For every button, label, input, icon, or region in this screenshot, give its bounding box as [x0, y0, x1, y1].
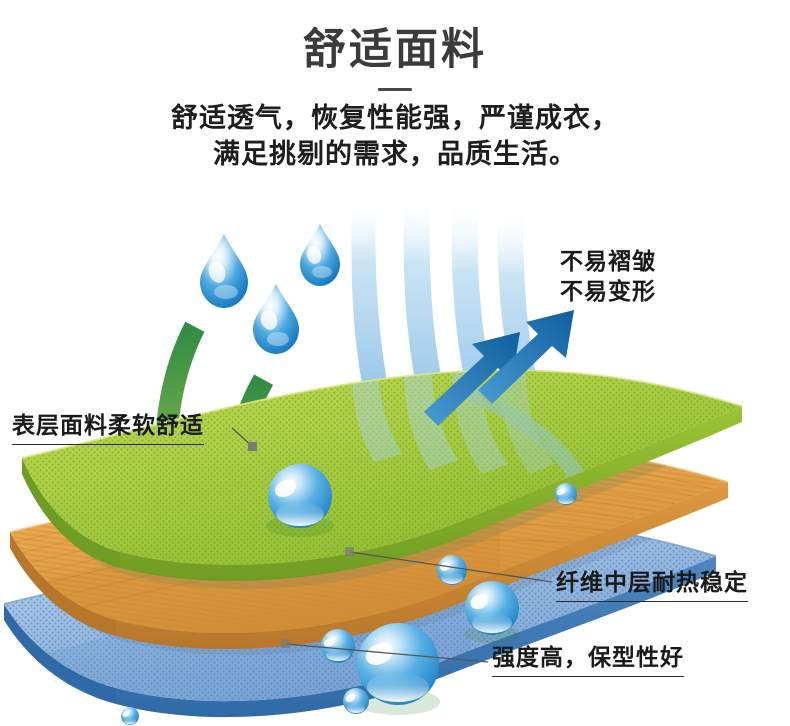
- callout-middle-layer: 纤维中层耐热稳定: [556, 568, 748, 602]
- subtitle-line-1: 舒适透气，恢复性能强，严谨成衣，: [171, 103, 619, 133]
- page-subtitle: 舒适透气，恢复性能强，严谨成衣， 满足挑剔的需求，品质生活。: [0, 101, 790, 173]
- callout-wrinkle-line-1: 不易褶皱: [560, 248, 656, 274]
- marker-top-layer: [248, 442, 257, 451]
- marker-middle-layer: [345, 547, 354, 556]
- page-title: 舒适面料: [0, 0, 790, 74]
- header: 舒适面料 舒适透气，恢复性能强，严谨成衣， 满足挑剔的需求，品质生活。: [0, 0, 790, 173]
- subtitle-line-2: 满足挑剔的需求，品质生活。: [0, 137, 790, 173]
- callout-wrinkle-line-2: 不易变形: [560, 277, 656, 307]
- callout-top-layer: 表层面料柔软舒适: [12, 411, 204, 445]
- falling-droplets: [200, 224, 340, 354]
- callout-bottom-layer: 强度高，保型性好: [492, 643, 684, 677]
- page-root: 舒适面料 舒适透气，恢复性能强，严谨成衣， 满足挑剔的需求，品质生活。: [0, 0, 790, 726]
- marker-bottom-layer: [281, 639, 290, 648]
- title-divider: [378, 88, 412, 91]
- callout-wrinkle-resistance: 不易褶皱 不易变形: [560, 247, 656, 307]
